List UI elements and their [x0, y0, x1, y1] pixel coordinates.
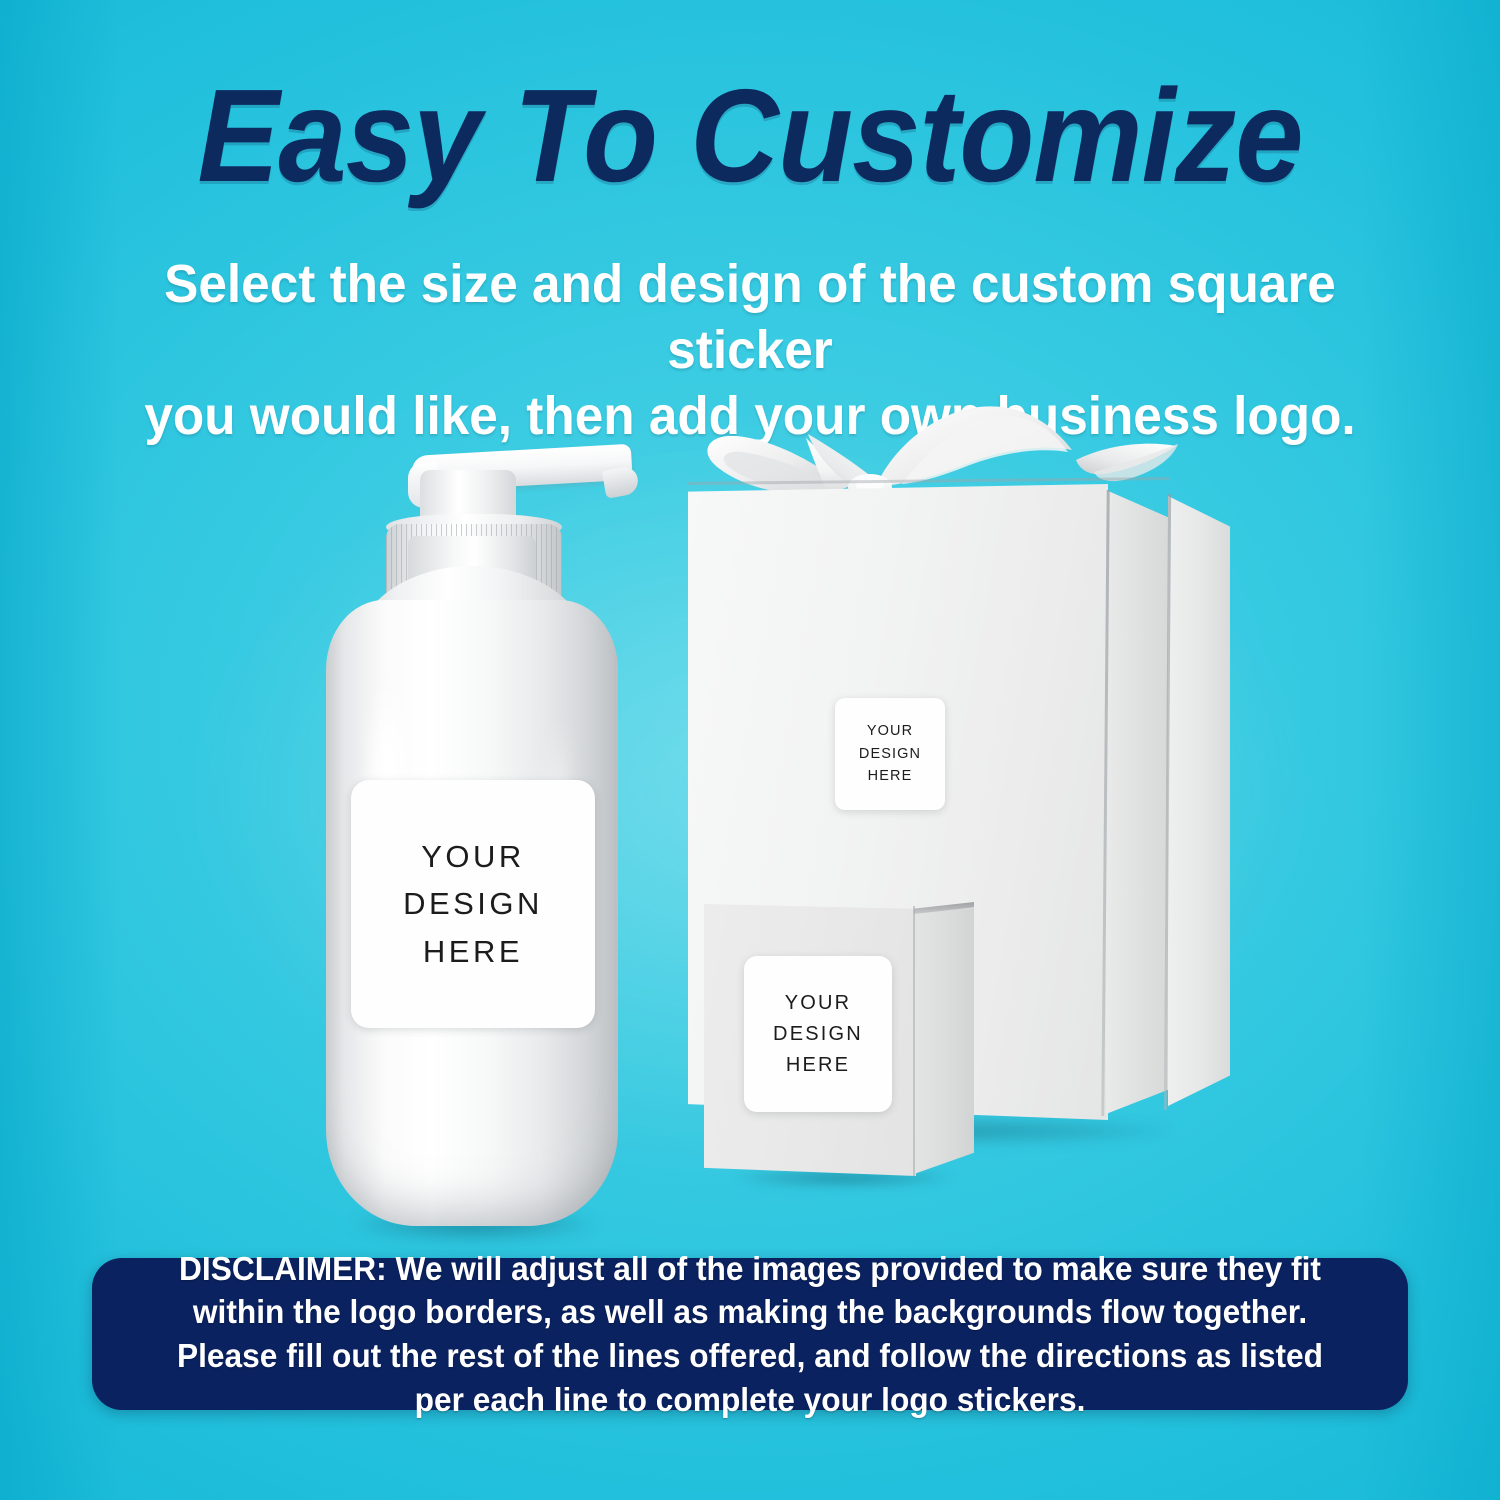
sticker-line-1: YOUR — [421, 833, 525, 880]
promo-graphic: Easy To Customize Select the size and de… — [0, 0, 1500, 1500]
sticker-line-2: DESIGN — [859, 743, 921, 765]
sticker-line-3: HERE — [868, 765, 913, 787]
product-small-box: YOUR DESIGN HERE — [704, 890, 994, 1182]
gift-box-side-face — [1106, 490, 1170, 1114]
page-title: Easy To Customize — [53, 70, 1448, 202]
sticker-bottle-label[interactable]: YOUR DESIGN HERE — [351, 780, 595, 1028]
sticker-line-3: HERE — [423, 928, 523, 975]
page-subtitle-line-1: Select the size and design of the custom… — [142, 252, 1358, 384]
sticker-gift-box[interactable]: YOUR DESIGN HERE — [835, 698, 945, 810]
sticker-line-2: DESIGN — [403, 880, 543, 927]
product-pump-bottle: YOUR DESIGN HERE — [312, 440, 632, 1240]
small-box-seam — [913, 906, 915, 1176]
small-box-side-face — [914, 908, 974, 1174]
disclaimer-text: DISCLAIMER: We will adjust all of the im… — [118, 1247, 1381, 1421]
sticker-line-1: YOUR — [785, 988, 852, 1019]
sticker-line-3: HERE — [786, 1050, 850, 1081]
gift-box-back-side-face — [1168, 496, 1230, 1106]
sticker-line-1: YOUR — [867, 720, 913, 742]
disclaimer-label: DISCLAIMER: — [179, 1250, 387, 1287]
sticker-line-2: DESIGN — [773, 1019, 863, 1050]
sticker-small-box[interactable]: YOUR DESIGN HERE — [744, 956, 892, 1112]
disclaimer-banner: DISCLAIMER: We will adjust all of the im… — [92, 1258, 1408, 1410]
